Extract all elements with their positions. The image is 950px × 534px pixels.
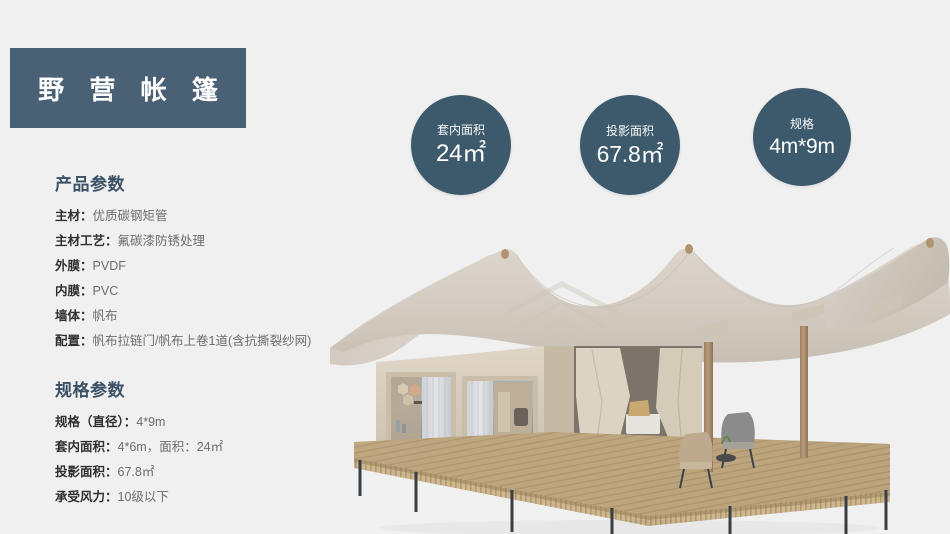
canopy-peak-finial — [926, 238, 934, 248]
interior-partition — [498, 392, 510, 432]
interior-fixture — [514, 408, 528, 426]
spec-label: 承受风力： — [55, 490, 118, 504]
interior-shelf — [414, 401, 423, 404]
interior-object — [396, 420, 400, 432]
interior-pillow — [628, 400, 650, 416]
stat-label: 套内面积 — [437, 124, 485, 136]
spec-value: 4*6m，面积：24㎡ — [118, 440, 224, 454]
stat-badge-dimensions: 规格 4m*9m — [753, 88, 851, 186]
page-title: 野 营 帐 篷 — [29, 70, 227, 107]
spec-value: PVDF — [93, 259, 126, 273]
spec-value: 4*9m — [136, 415, 165, 429]
ground-shadow — [380, 520, 880, 534]
spec-label: 套内面积： — [55, 440, 118, 454]
spec-label: 外膜： — [55, 259, 93, 273]
stat-value: 4m*9m — [769, 136, 835, 157]
spec-value: 帆布 — [93, 309, 118, 323]
porch-post — [800, 326, 808, 458]
interior-bed — [626, 414, 660, 434]
spec-value: 帆布拉链门/帆布上卷1道(含抗撕裂纱网) — [93, 334, 312, 348]
stat-badge-projected-area: 投影面积 67.8㎡ — [580, 95, 680, 195]
spec-label: 投影面积： — [55, 465, 118, 479]
stat-label: 规格 — [790, 118, 814, 130]
product-parameters-heading: 产品参数 — [55, 170, 385, 195]
spec-label: 墙体： — [55, 309, 93, 323]
canopy-peak-finial — [501, 249, 509, 259]
spec-value: 氟碳漆防锈处理 — [118, 234, 206, 248]
side-table — [716, 454, 736, 462]
stat-label: 投影面积 — [606, 125, 654, 137]
spec-value: 10级以下 — [118, 490, 169, 504]
spec-label: 配置： — [55, 334, 93, 348]
spec-value: 67.8㎡ — [118, 465, 155, 479]
spec-label: 主材： — [55, 209, 93, 223]
spec-value: 优质碳钢矩管 — [93, 209, 168, 223]
stat-badge-interior-area: 套内面积 24㎡ — [411, 95, 511, 195]
spec-label: 规格（直径）： — [55, 415, 136, 429]
spec-label: 主材工艺： — [55, 234, 118, 248]
page-title-banner: 野 营 帐 篷 — [10, 48, 246, 128]
canopy-peak-finial — [685, 244, 693, 254]
interior-object — [402, 424, 406, 433]
tent-product-image: 雪和篷房 XUEHE TENT — [330, 196, 950, 534]
spec-label: 内膜： — [55, 284, 93, 298]
stat-value: 67.8㎡ — [597, 143, 664, 166]
page-root: 野 营 帐 篷 产品参数 主材：优质碳钢矩管 主材工艺：氟碳漆防锈处理 外膜：P… — [0, 0, 950, 534]
stat-value: 24㎡ — [436, 142, 486, 166]
spec-value: PVC — [93, 284, 119, 298]
window-curtain — [422, 377, 451, 441]
